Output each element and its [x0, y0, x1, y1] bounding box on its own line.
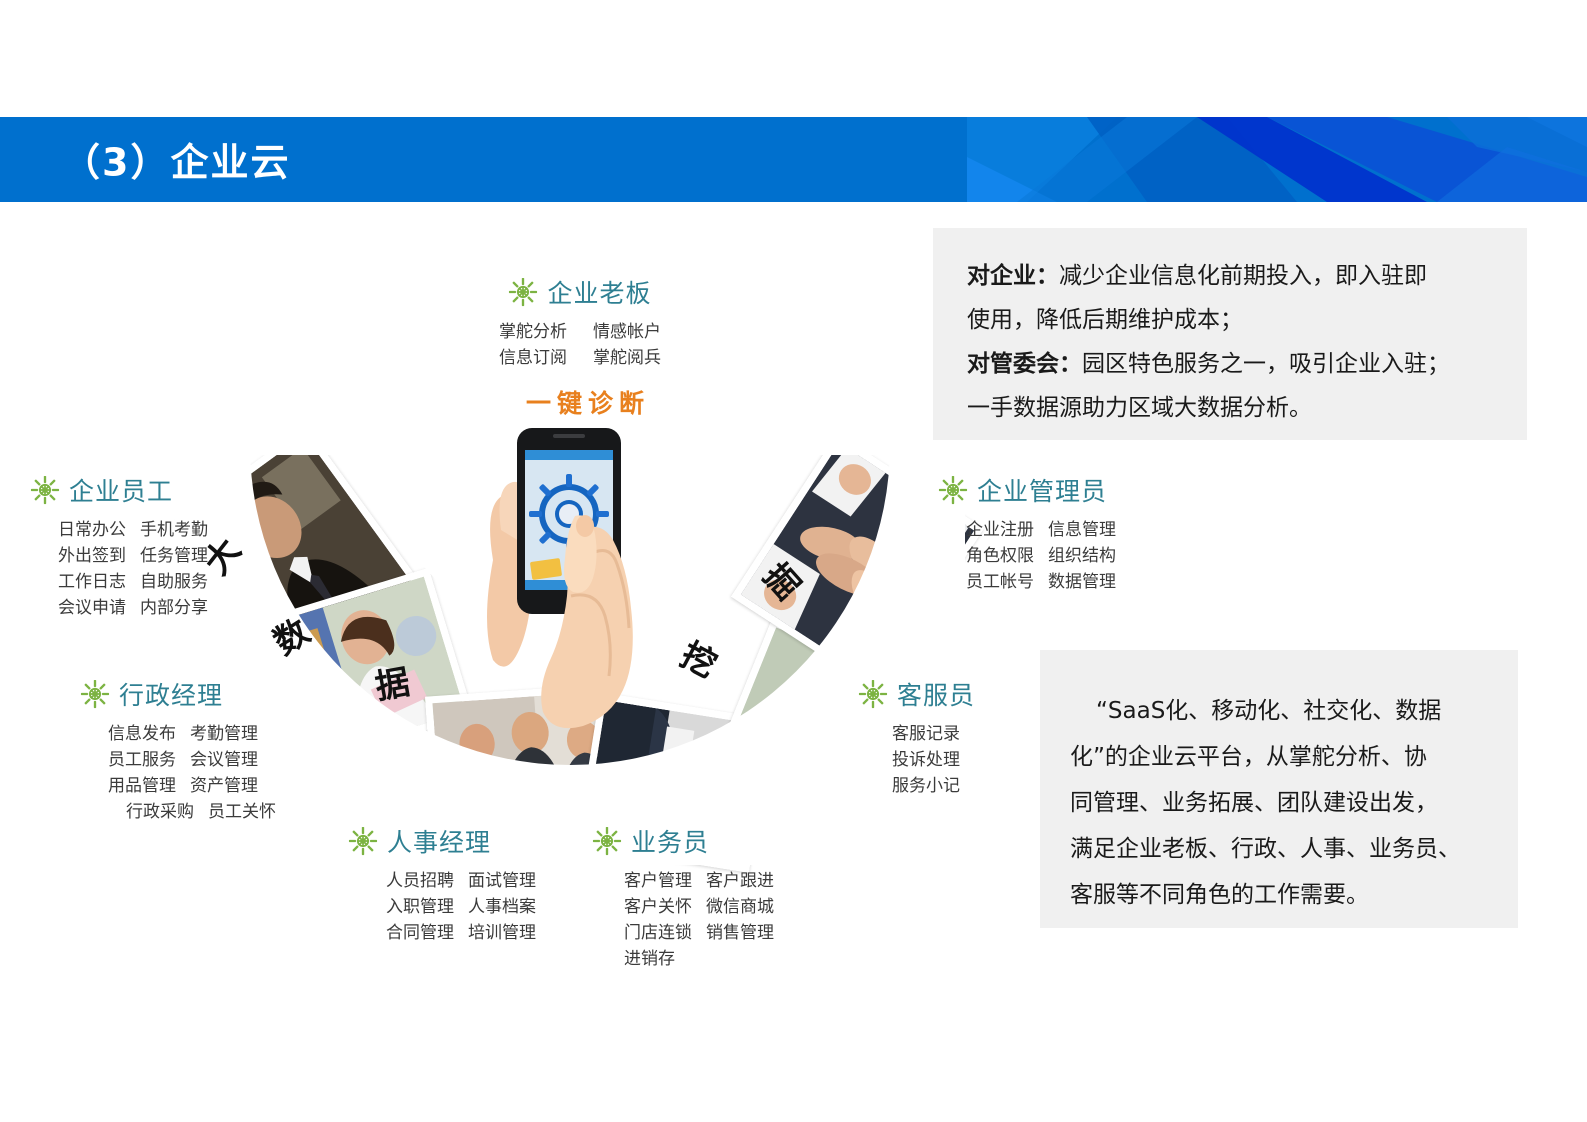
role-item: 培训管理	[468, 920, 550, 946]
role-item-row: 人员招聘 面试管理	[386, 868, 550, 894]
helm-icon	[80, 679, 110, 709]
role-item: 员工关怀	[208, 799, 290, 825]
role-item: 面试管理	[468, 868, 550, 894]
role-item: 任务管理	[140, 543, 222, 569]
slide-root: （3）企业云	[0, 0, 1587, 1122]
role-item: 角色权限	[966, 543, 1048, 569]
helm-icon	[348, 826, 378, 856]
role-item-row: 投诉处理	[892, 747, 975, 773]
role-item-row: 员工帐号 数据管理	[966, 569, 1130, 595]
role-item: 投诉处理	[892, 747, 974, 773]
phone-illustration	[475, 410, 685, 740]
role-item-row: 会议申请 内部分享	[58, 595, 222, 621]
role-item: 组织结构	[1048, 543, 1130, 569]
role-item-row: 信息发布 考勤管理	[108, 721, 290, 747]
callout-line-text: 减少企业信息化前期投入，即入驻即	[1059, 263, 1427, 289]
role-head-enterprise-admin: 企业管理员	[938, 472, 1130, 508]
role-group-hr-manager: 人事经理 人员招聘 面试管理 入职管理 人事档案 合同管理 培训管理	[348, 823, 550, 946]
page-title: （3）企业云	[62, 131, 290, 186]
header-banner: （3）企业云	[0, 117, 1587, 202]
role-item-row: 服务小记	[892, 773, 975, 799]
role-item: 人事档案	[468, 894, 550, 920]
callout-line-text: 使用，降低后期维护成本；	[967, 307, 1243, 333]
role-head-admin-manager: 行政经理	[80, 676, 290, 712]
role-item: 外出签到	[58, 543, 140, 569]
role-item: 客户管理	[624, 868, 706, 894]
callout-line-bold: 对管委会：	[967, 351, 1082, 377]
role-item-row: 客户关怀 微信商城	[624, 894, 788, 920]
role-item: 销售管理	[706, 920, 788, 946]
role-head-employee: 企业员工	[30, 472, 222, 508]
role-item: 门店连锁	[624, 920, 706, 946]
role-item: 用品管理	[108, 773, 190, 799]
role-item: 手机考勤	[140, 517, 222, 543]
role-item-row: 行政采购 员工关怀	[126, 799, 290, 825]
role-head-hr-manager: 人事经理	[348, 823, 550, 859]
role-item: 工作日志	[58, 569, 140, 595]
role-item-row: 进销存	[624, 946, 788, 972]
callout-line: “SaaS化、移动化、社交化、数据	[1070, 688, 1492, 734]
role-item: 服务小记	[892, 773, 974, 799]
role-items-hr-manager: 人员招聘 面试管理 入职管理 人事档案 合同管理 培训管理	[386, 868, 550, 946]
role-item-row: 掌舵分析 情感帐户	[430, 319, 730, 345]
role-item: 行政采购	[126, 799, 208, 825]
header-decorative-pattern	[967, 117, 1587, 202]
role-item-row: 入职管理 人事档案	[386, 894, 550, 920]
role-item-row: 门店连锁 销售管理	[624, 920, 788, 946]
role-item-row: 外出签到 任务管理	[58, 543, 222, 569]
header-pattern-svg	[967, 117, 1587, 202]
role-title-enterprise-admin: 企业管理员	[977, 472, 1107, 508]
role-item: 进销存	[624, 946, 706, 972]
role-head-salesperson: 业务员	[592, 823, 788, 859]
role-item: 掌舵阅兵	[586, 345, 668, 371]
role-item-row: 企业注册 信息管理	[966, 517, 1130, 543]
callout-line-text: 园区特色服务之一，吸引企业入驻；	[1082, 351, 1450, 377]
role-item: 自助服务	[140, 569, 222, 595]
callout-line: 化”的企业云平台，从掌舵分析、协	[1070, 734, 1492, 780]
role-items-employee: 日常办公 手机考勤 外出签到 任务管理 工作日志 自助服务 会议申请 内部分享	[58, 517, 222, 621]
role-group-admin-manager: 行政经理 信息发布 考勤管理 员工服务 会议管理 用品管理 资产管理 行政采购 …	[80, 676, 290, 825]
role-item-row: 员工服务 会议管理	[108, 747, 290, 773]
callout-line: 对企业：减少企业信息化前期投入，即入驻即	[967, 254, 1501, 298]
role-item: 信息管理	[1048, 517, 1130, 543]
role-title-employee: 企业员工	[69, 472, 173, 508]
role-item: 客户关怀	[624, 894, 706, 920]
hands-holding-phone	[475, 410, 685, 740]
role-group-salesperson: 业务员 客户管理 客户跟进 客户关怀 微信商城 门店连锁 销售管理 进销存	[592, 823, 788, 972]
role-item: 日常办公	[58, 517, 140, 543]
callout-line: 一手数据源助力区域大数据分析。	[967, 386, 1501, 430]
callout-platform-description: “SaaS化、移动化、社交化、数据 化”的企业云平台，从掌舵分析、协 同管理、业…	[1040, 650, 1518, 928]
role-group-employee: 企业员工 日常办公 手机考勤 外出签到 任务管理 工作日志 自助服务 会议申请 …	[30, 472, 222, 621]
role-item-row: 客服记录	[892, 721, 975, 747]
one-key-diagnose-label: 一键诊断	[498, 384, 678, 420]
role-item: 员工服务	[108, 747, 190, 773]
role-item-row: 角色权限 组织结构	[966, 543, 1130, 569]
role-item: 微信商城	[706, 894, 788, 920]
role-item: 会议申请	[58, 595, 140, 621]
role-item-row: 客户管理 客户跟进	[624, 868, 788, 894]
role-item: 合同管理	[386, 920, 468, 946]
role-item-row: 工作日志 自助服务	[58, 569, 222, 595]
role-item: 客服记录	[892, 721, 974, 747]
role-title-hr-manager: 人事经理	[387, 823, 491, 859]
callout-line-text: 一手数据源助力区域大数据分析。	[967, 395, 1312, 421]
role-item: 掌舵分析	[492, 319, 574, 345]
helm-icon	[508, 277, 538, 307]
role-item: 企业注册	[966, 517, 1048, 543]
helm-icon	[938, 475, 968, 505]
role-items-enterprise-admin: 企业注册 信息管理 角色权限 组织结构 员工帐号 数据管理	[966, 517, 1130, 595]
role-item-row: 日常办公 手机考勤	[58, 517, 222, 543]
callout-line: 客服等不同角色的工作需要。	[1070, 872, 1492, 918]
role-item: 客户跟进	[706, 868, 788, 894]
role-item: 情感帐户	[586, 319, 668, 345]
role-item: 资产管理	[190, 773, 272, 799]
role-item: 入职管理	[386, 894, 468, 920]
role-item-row: 合同管理 培训管理	[386, 920, 550, 946]
role-item-row: 用品管理 资产管理	[108, 773, 290, 799]
role-item: 会议管理	[190, 747, 272, 773]
role-group-boss: 企业老板 掌舵分析 情感帐户 信息订阅 掌舵阅兵	[430, 274, 730, 371]
role-item: 信息订阅	[492, 345, 574, 371]
role-head-boss: 企业老板	[430, 274, 730, 310]
role-item: 信息发布	[108, 721, 190, 747]
role-title-customer-service: 客服员	[897, 676, 975, 712]
role-items-boss: 掌舵分析 情感帐户 信息订阅 掌舵阅兵	[430, 319, 730, 371]
role-group-customer-service: 客服员 客服记录 投诉处理 服务小记	[858, 676, 975, 799]
callout-line: 使用，降低后期维护成本；	[967, 298, 1501, 342]
callout-line: 同管理、业务拓展、团队建设出发，	[1070, 780, 1492, 826]
callout-benefits: 对企业：减少企业信息化前期投入，即入驻即 使用，降低后期维护成本； 对管委会：园…	[933, 228, 1527, 440]
role-item-row: 信息订阅 掌舵阅兵	[430, 345, 730, 371]
helm-icon	[592, 826, 622, 856]
role-items-customer-service: 客服记录 投诉处理 服务小记	[892, 721, 975, 799]
role-title-salesperson: 业务员	[631, 823, 709, 859]
role-item: 数据管理	[1048, 569, 1130, 595]
role-items-salesperson: 客户管理 客户跟进 客户关怀 微信商城 门店连锁 销售管理 进销存	[624, 868, 788, 972]
callout-line-bold: 对企业：	[967, 263, 1059, 289]
role-group-enterprise-admin: 企业管理员 企业注册 信息管理 角色权限 组织结构 员工帐号 数据管理	[938, 472, 1130, 595]
callout-line: 满足企业老板、行政、人事、业务员、	[1070, 826, 1492, 872]
center-collage: 大 数 据 挖 掘	[175, 405, 965, 865]
role-item: 人员招聘	[386, 868, 468, 894]
role-title-boss: 企业老板	[547, 274, 651, 310]
helm-icon	[858, 679, 888, 709]
callout-line: 对管委会：园区特色服务之一，吸引企业入驻；	[967, 342, 1501, 386]
role-item: 员工帐号	[966, 569, 1048, 595]
role-item: 内部分享	[140, 595, 222, 621]
role-items-admin-manager: 信息发布 考勤管理 员工服务 会议管理 用品管理 资产管理 行政采购 员工关怀	[108, 721, 290, 825]
role-head-customer-service: 客服员	[858, 676, 975, 712]
helm-icon	[30, 475, 60, 505]
role-title-admin-manager: 行政经理	[119, 676, 223, 712]
role-item: 考勤管理	[190, 721, 272, 747]
